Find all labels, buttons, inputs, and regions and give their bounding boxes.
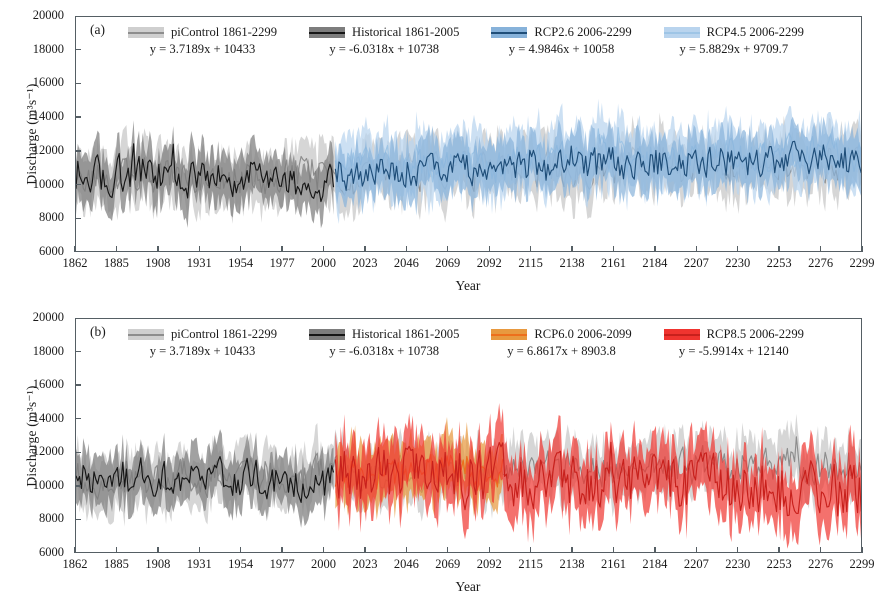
y-tick-mark	[75, 418, 81, 419]
y-tick-label: 12000	[12, 445, 64, 458]
x-tick-mark	[613, 547, 614, 553]
y-tick-mark	[75, 49, 81, 50]
figure-root: Discharge (m³s⁻¹) 2000018000160001400012…	[0, 0, 884, 600]
y-tick-label: 18000	[12, 43, 64, 56]
y-tick-label: 10000	[12, 178, 64, 191]
y-tick-mark	[75, 519, 81, 520]
panel-a-x-axis-title: Year	[408, 278, 528, 294]
panel-b: Discharge (m³s⁻¹) 2000018000160001400012…	[0, 300, 884, 600]
y-tick-label: 12000	[12, 144, 64, 157]
y-tick-mark	[75, 351, 81, 352]
x-tick-label: 2299	[835, 257, 884, 270]
y-tick-label: 14000	[12, 412, 64, 425]
x-tick-mark	[240, 246, 241, 252]
x-tick-mark	[778, 246, 779, 252]
x-tick-mark	[737, 246, 738, 252]
y-tick-mark	[75, 452, 81, 453]
panel-a-plot-area	[75, 16, 862, 252]
x-tick-label: 2299	[835, 558, 884, 571]
x-tick-mark	[240, 547, 241, 553]
x-tick-mark	[571, 547, 572, 553]
x-tick-mark	[406, 547, 407, 553]
x-tick-mark	[820, 547, 821, 553]
y-tick-mark	[75, 116, 81, 117]
y-tick-mark	[75, 83, 81, 84]
x-tick-mark	[447, 547, 448, 553]
y-tick-mark	[75, 150, 81, 151]
x-tick-mark	[696, 547, 697, 553]
x-tick-mark	[323, 246, 324, 252]
x-tick-mark	[281, 547, 282, 553]
x-tick-mark	[489, 246, 490, 252]
x-tick-mark	[861, 246, 862, 252]
x-tick-mark	[447, 246, 448, 252]
x-tick-mark	[406, 246, 407, 252]
y-tick-label: 6000	[12, 546, 64, 559]
x-tick-mark	[364, 547, 365, 553]
x-tick-mark	[696, 246, 697, 252]
x-tick-mark	[737, 547, 738, 553]
panel-b-y-tick-labels: 20000180001600014000120001000080006000	[12, 300, 64, 600]
x-tick-mark	[157, 246, 158, 252]
x-tick-mark	[281, 246, 282, 252]
x-tick-mark	[654, 547, 655, 553]
x-tick-mark	[157, 547, 158, 553]
panel-b-plot-area	[75, 318, 862, 553]
x-tick-mark	[530, 246, 531, 252]
y-tick-label: 8000	[12, 211, 64, 224]
y-tick-label: 18000	[12, 345, 64, 358]
x-tick-mark	[116, 246, 117, 252]
y-tick-mark	[75, 485, 81, 486]
x-tick-mark	[613, 246, 614, 252]
x-tick-mark	[116, 547, 117, 553]
x-tick-mark	[199, 246, 200, 252]
y-tick-label: 20000	[12, 9, 64, 22]
y-tick-label: 8000	[12, 512, 64, 525]
x-tick-mark	[199, 547, 200, 553]
x-tick-mark	[489, 547, 490, 553]
panel-a-series-canvas	[76, 17, 862, 252]
y-tick-mark	[75, 184, 81, 185]
x-tick-mark	[654, 246, 655, 252]
x-tick-mark	[74, 547, 75, 553]
y-tick-mark	[75, 384, 81, 385]
x-tick-mark	[820, 246, 821, 252]
y-tick-mark	[75, 218, 81, 219]
x-tick-mark	[364, 246, 365, 252]
panel-a: Discharge (m³s⁻¹) 2000018000160001400012…	[0, 0, 884, 300]
y-tick-label: 16000	[12, 76, 64, 89]
y-tick-label: 10000	[12, 479, 64, 492]
panel-a-y-tick-labels: 20000180001600014000120001000080006000	[12, 0, 64, 300]
x-tick-mark	[323, 547, 324, 553]
y-tick-label: 6000	[12, 245, 64, 258]
panel-b-series-canvas	[76, 319, 862, 553]
x-tick-mark	[571, 246, 572, 252]
y-tick-label: 20000	[12, 311, 64, 324]
x-tick-mark	[861, 547, 862, 553]
x-tick-mark	[530, 547, 531, 553]
x-tick-mark	[74, 246, 75, 252]
x-tick-mark	[778, 547, 779, 553]
panel-b-x-axis-title: Year	[408, 579, 528, 595]
y-tick-label: 16000	[12, 378, 64, 391]
y-tick-label: 14000	[12, 110, 64, 123]
